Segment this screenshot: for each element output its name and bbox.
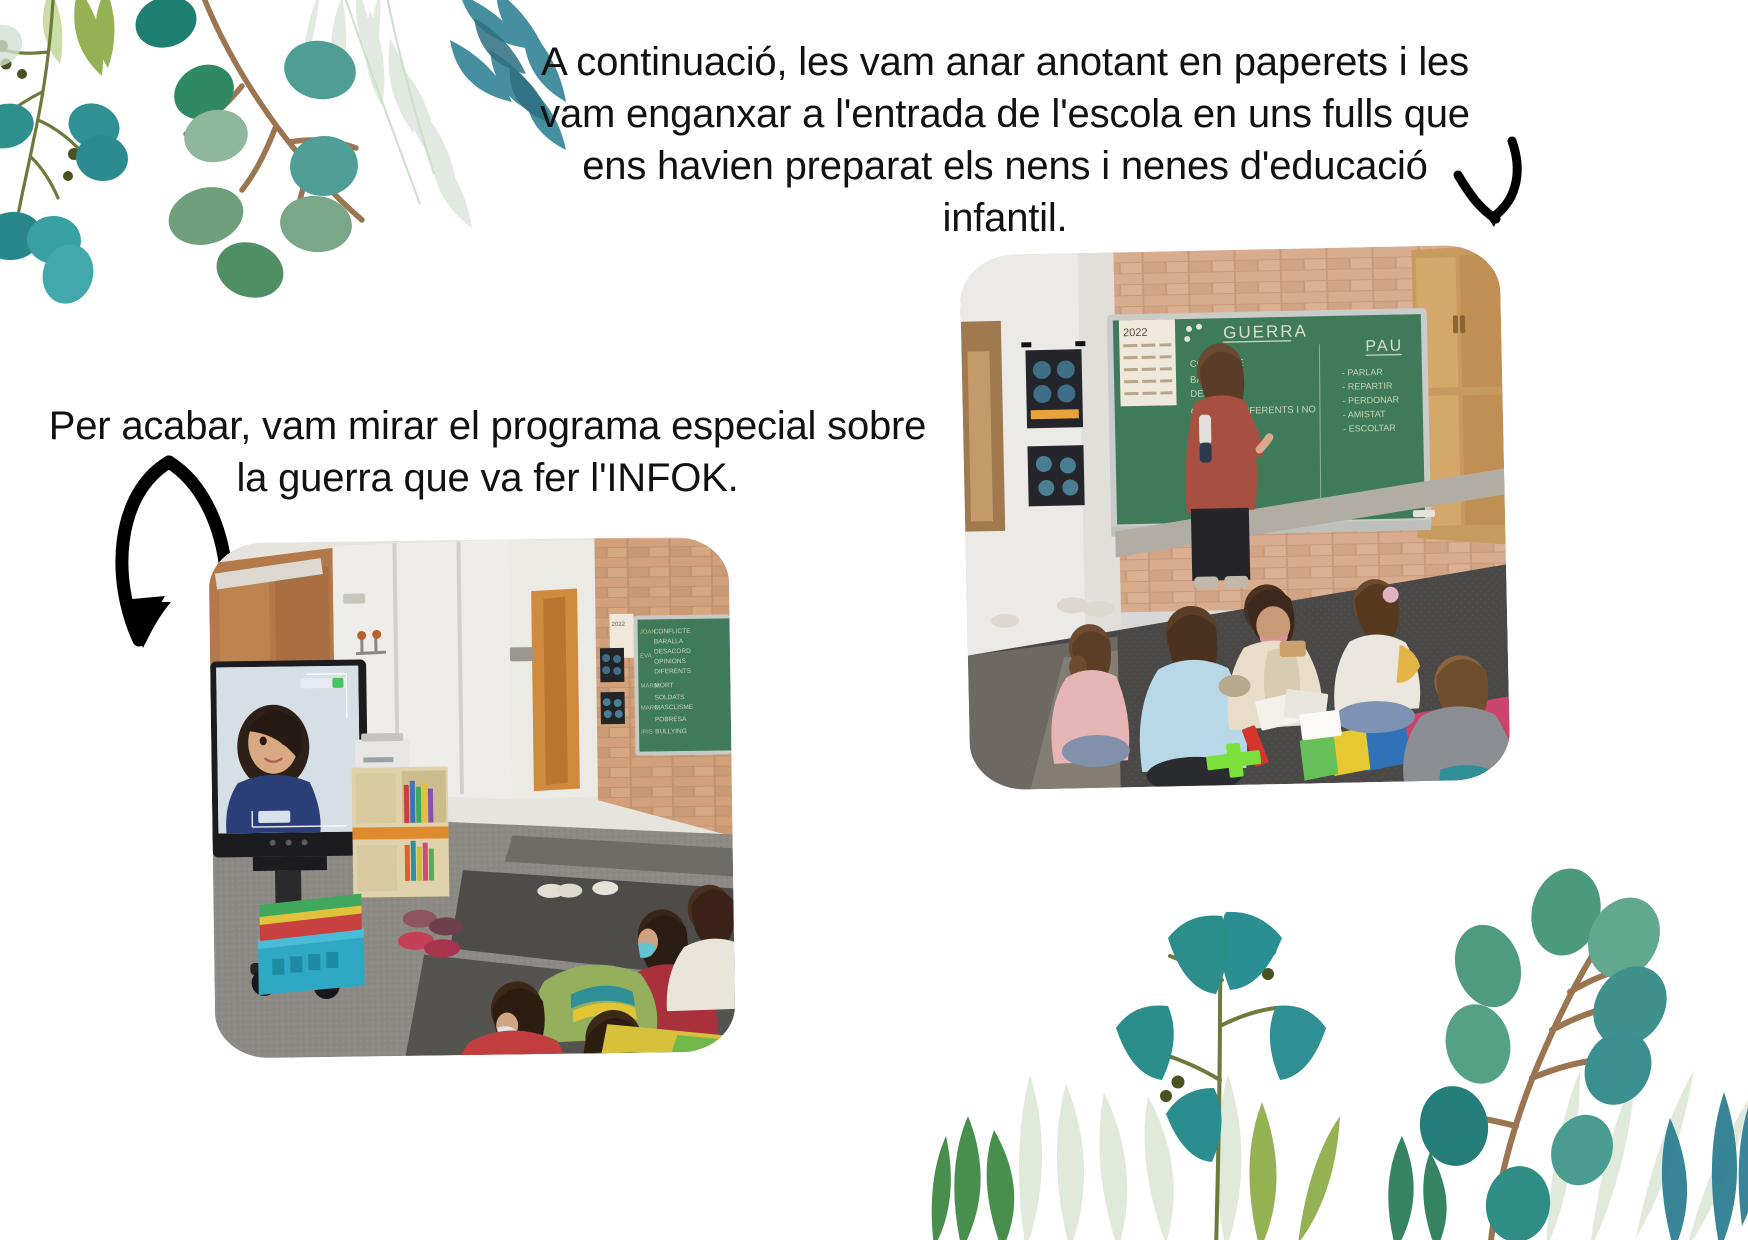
botanical-decoration-top-left <box>0 0 570 318</box>
svg-text:CONFLICTE: CONFLICTE <box>654 628 692 636</box>
svg-text:2022: 2022 <box>1123 327 1148 340</box>
svg-text:- PARLAR: - PARLAR <box>1342 367 1384 378</box>
closing-paragraph: Per acabar, vam mirar el programa especi… <box>35 400 940 504</box>
svg-text:2022: 2022 <box>612 622 626 628</box>
photo-infok-screening: 2022 CONFLICTE BARALLA DESACORD OPINIONS… <box>208 536 735 1058</box>
svg-text:DIFERENTS: DIFERENTS <box>654 668 692 676</box>
botanical-decoration-bottom-right <box>930 820 1748 1240</box>
svg-text:JOAN: JOAN <box>640 629 656 635</box>
photo-blackboard-classroom: 2022 GUERRA PAU CONFLICTE B <box>959 244 1510 790</box>
svg-text:MARIA: MARIA <box>640 683 659 689</box>
svg-text:- REPARTIR: - REPARTIR <box>1342 381 1393 392</box>
svg-text:GUERRA: GUERRA <box>1223 321 1308 342</box>
svg-text:DESACORD: DESACORD <box>654 648 691 656</box>
svg-text:POBRESA: POBRESA <box>655 716 687 723</box>
slide-canvas: A continuació, les vam anar anotant en p… <box>0 0 1748 1240</box>
svg-text:BARALLA: BARALLA <box>654 638 684 645</box>
svg-text:- PERDONAR: - PERDONAR <box>1342 395 1399 406</box>
svg-text:MARC: MARC <box>641 705 659 711</box>
svg-text:- ESCOLTAR: - ESCOLTAR <box>1343 423 1396 434</box>
svg-text:- AMISTAT: - AMISTAT <box>1343 409 1386 420</box>
svg-text:EVA: EVA <box>640 653 652 659</box>
svg-text:PAU: PAU <box>1365 337 1403 355</box>
intro-paragraph: A continuació, les vam anar anotant en p… <box>540 36 1470 244</box>
svg-text:IRIS: IRIS <box>641 729 653 735</box>
svg-text:SOLDATS: SOLDATS <box>655 694 686 701</box>
svg-text:OPINIONS: OPINIONS <box>654 658 687 665</box>
svg-text:MASCLISME: MASCLISME <box>655 704 694 712</box>
svg-text:BULLYING: BULLYING <box>655 728 687 735</box>
